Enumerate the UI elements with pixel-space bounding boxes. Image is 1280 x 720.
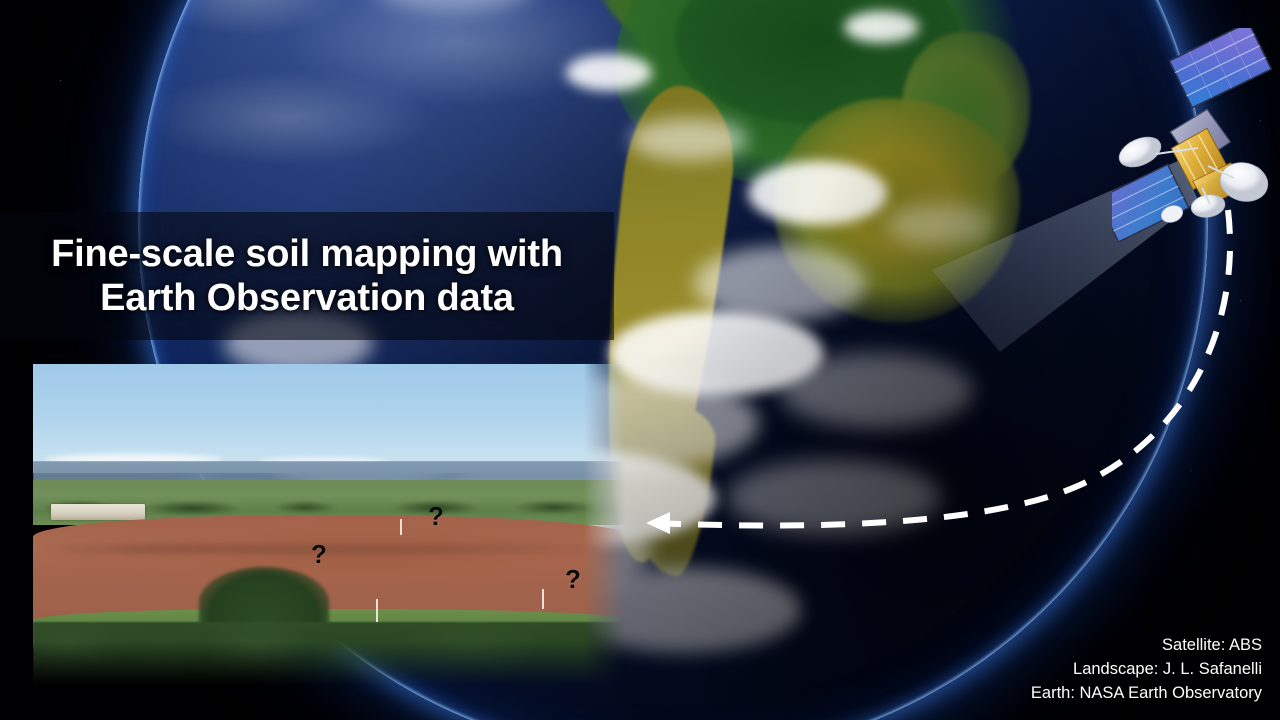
- question-mark-annotation: ?: [311, 541, 327, 567]
- slide-title-block: Fine-scale soil mapping with Earth Obser…: [0, 212, 614, 340]
- title-line-2: Earth Observation data: [100, 276, 514, 320]
- credit-earth: Earth: NASA Earth Observatory: [1031, 682, 1262, 706]
- presentation-slide: ? ? ? Fine-scale soil mapping with Earth…: [0, 0, 1280, 720]
- question-mark-annotation: ?: [428, 503, 444, 529]
- photo-pole-3: [542, 589, 544, 608]
- photo-pole: [400, 519, 402, 535]
- credit-landscape: Landscape: J. L. Safanelli: [1031, 658, 1262, 682]
- title-line-1: Fine-scale soil mapping with: [51, 232, 563, 276]
- photo-pole-2: [376, 599, 378, 622]
- photo-farm-building: [51, 504, 146, 520]
- question-mark-annotation: ?: [565, 566, 581, 592]
- satellite-illustration: [1112, 28, 1280, 243]
- photo-soil-band: [33, 544, 625, 554]
- credit-satellite: Satellite: ABS: [1031, 634, 1262, 658]
- landscape-photo-inset: [33, 364, 625, 686]
- photo-forest: [33, 622, 625, 686]
- image-credits: Satellite: ABS Landscape: J. L. Safanell…: [1031, 634, 1262, 706]
- south-america-landmass: [577, 0, 1069, 589]
